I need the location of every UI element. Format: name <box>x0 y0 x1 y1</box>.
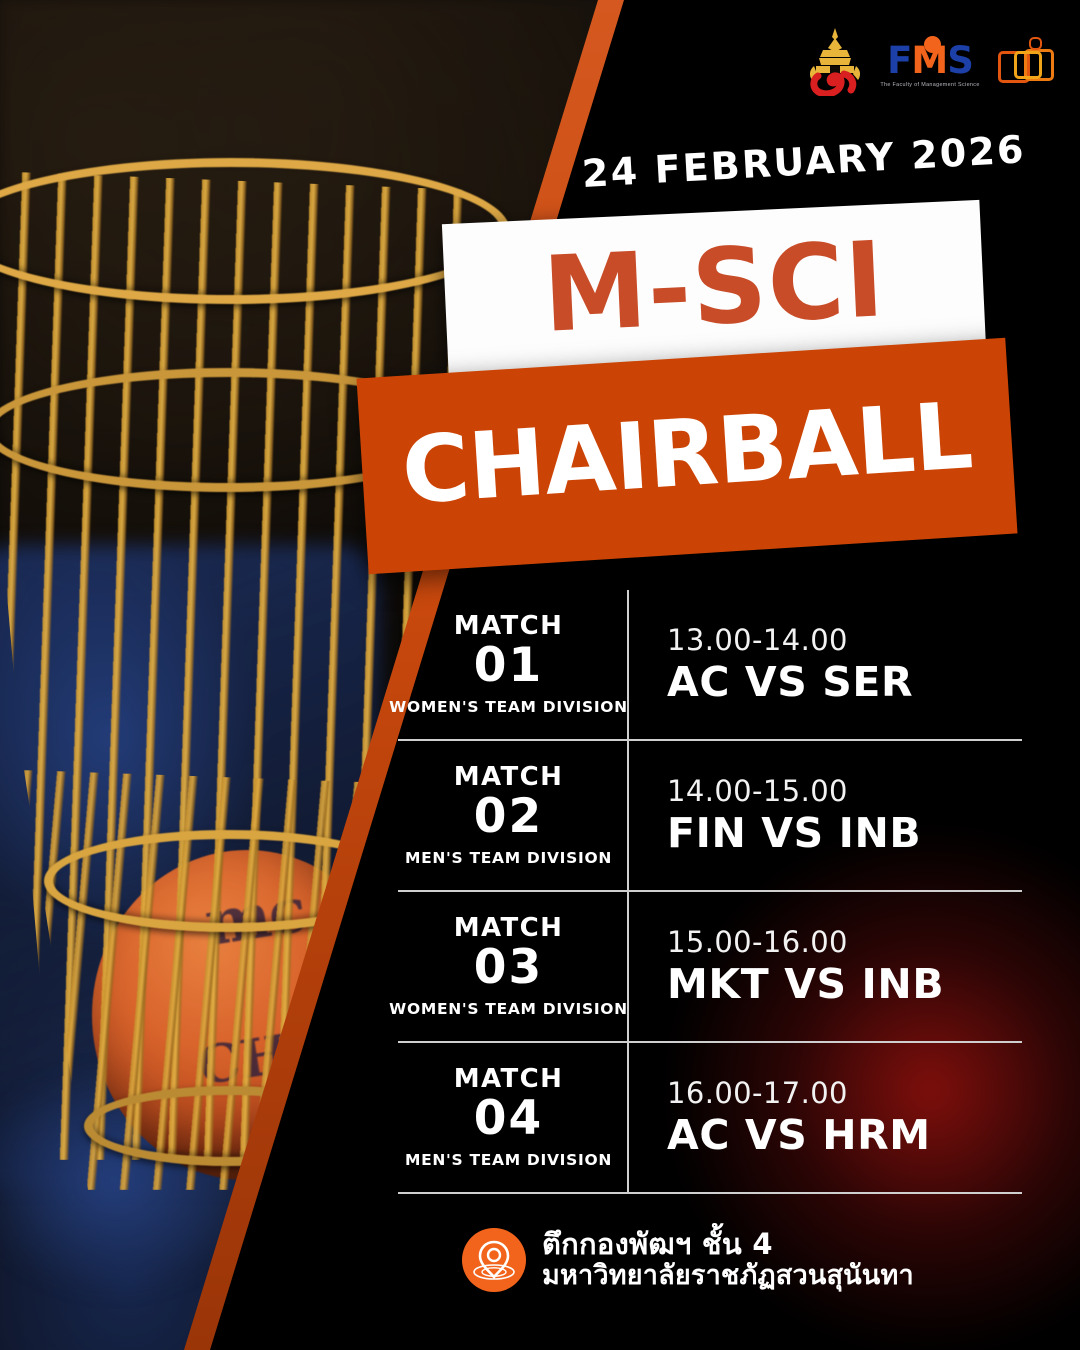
match-teams: FIN VS INB <box>667 811 1022 857</box>
fms-subtitle: The Faculty of Management Science <box>878 82 982 88</box>
match-number: 03 <box>474 943 543 994</box>
logo-row: FMS The Faculty of Management Science <box>808 22 1050 100</box>
match-identity-cell: MATCH 02 MEN'S TEAM DIVISION <box>398 741 629 890</box>
match-division: WOMEN'S TEAM DIVISION <box>389 698 628 716</box>
abstract-squares-logo-icon <box>998 37 1050 85</box>
match-details-cell: 15.00-16.00 MKT VS INB <box>629 892 1022 1041</box>
match-number: 02 <box>474 792 543 843</box>
match-time: 14.00-15.00 <box>667 774 1022 808</box>
ssru-emblem-icon <box>808 26 862 96</box>
title-banner-orange: CHAIRBALL <box>356 338 1017 574</box>
match-schedule: MATCH 01 WOMEN'S TEAM DIVISION 13.00-14.… <box>398 590 1022 1194</box>
match-word-label: MATCH <box>454 915 564 942</box>
match-number: 04 <box>474 1094 543 1145</box>
fms-dot-icon <box>924 36 941 53</box>
title-msci: M-SCI <box>541 227 887 346</box>
match-number: 01 <box>474 641 543 692</box>
fms-letter-f: F <box>887 39 911 82</box>
match-teams: AC VS HRM <box>667 1113 1022 1159</box>
venue-university: มหาวิทยาลัยราชภัฏสวนสุนันทา <box>542 1261 914 1292</box>
match-identity-cell: MATCH 03 WOMEN'S TEAM DIVISION <box>398 892 629 1041</box>
match-teams: MKT VS INB <box>667 962 1022 1008</box>
table-row: MATCH 04 MEN'S TEAM DIVISION 16.00-17.00… <box>398 1043 1022 1194</box>
fms-logo: FMS The Faculty of Management Science <box>878 31 982 91</box>
venue-building: ตึกกองพัฒฯ ชั้น 4 <box>542 1228 914 1261</box>
match-division: MEN'S TEAM DIVISION <box>405 849 612 867</box>
match-time: 15.00-16.00 <box>667 925 1022 959</box>
table-row: MATCH 01 WOMEN'S TEAM DIVISION 13.00-14.… <box>398 590 1022 741</box>
match-word-label: MATCH <box>454 613 564 640</box>
match-division: MEN'S TEAM DIVISION <box>405 1151 612 1169</box>
logo-square-2 <box>1014 51 1042 79</box>
match-time: 13.00-14.00 <box>667 623 1022 657</box>
fms-letter-s: S <box>947 39 973 82</box>
location-pin-icon <box>462 1228 526 1292</box>
match-identity-cell: MATCH 04 MEN'S TEAM DIVISION <box>398 1043 629 1192</box>
match-details-cell: 16.00-17.00 AC VS HRM <box>629 1043 1022 1192</box>
match-identity-cell: MATCH 01 WOMEN'S TEAM DIVISION <box>398 590 629 739</box>
match-details-cell: 13.00-14.00 AC VS SER <box>629 590 1022 739</box>
venue-info: ตึกกองพัฒฯ ชั้น 4 มหาวิทยาลัยราชภัฏสวนสุ… <box>462 1228 914 1292</box>
event-poster: mc CH <box>0 0 1080 1350</box>
venue-text-block: ตึกกองพัฒฯ ชั้น 4 มหาวิทยาลัยราชภัฏสวนสุ… <box>542 1228 914 1292</box>
table-row: MATCH 03 WOMEN'S TEAM DIVISION 15.00-16.… <box>398 892 1022 1043</box>
match-division: WOMEN'S TEAM DIVISION <box>389 1000 628 1018</box>
logo-square-small <box>1029 37 1042 50</box>
title-chairball: CHAIRBALL <box>399 390 974 518</box>
match-word-label: MATCH <box>454 1066 564 1093</box>
table-row: MATCH 02 MEN'S TEAM DIVISION 14.00-15.00… <box>398 741 1022 892</box>
match-details-cell: 14.00-15.00 FIN VS INB <box>629 741 1022 890</box>
match-word-label: MATCH <box>454 764 564 791</box>
match-time: 16.00-17.00 <box>667 1076 1022 1110</box>
match-teams: AC VS SER <box>667 660 1022 706</box>
